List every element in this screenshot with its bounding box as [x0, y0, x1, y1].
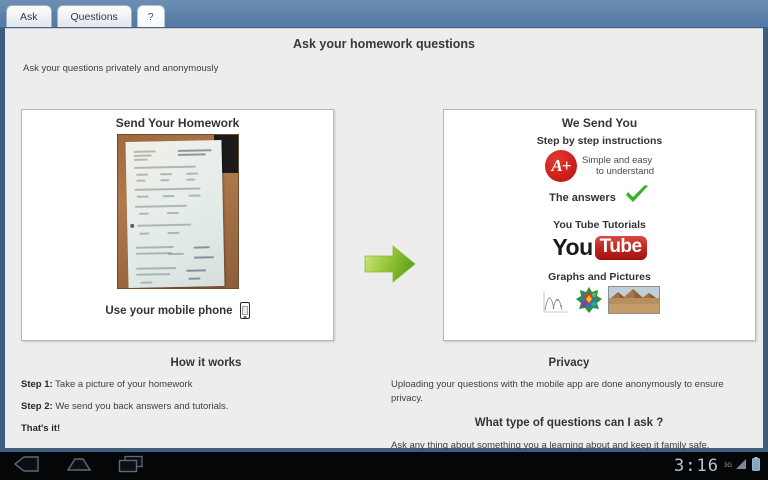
signal-network-label: 3G: [724, 463, 732, 469]
youtube-logo-you: You: [552, 234, 592, 261]
page-content: Ask your homework questions Ask your que…: [5, 28, 763, 448]
send-homework-title: Send Your Homework: [22, 116, 333, 130]
line-graph-icon: [540, 288, 570, 314]
page-subtitle: Ask your questions privately and anonymo…: [23, 63, 763, 74]
homework-photo-wrap: [22, 134, 333, 289]
android-navigation-bar: 3:16 3G: [0, 452, 768, 480]
a-plus-grade-icon: A+: [545, 150, 577, 182]
green-checkmark-icon: [624, 185, 650, 210]
status-area: 3:16 3G: [674, 456, 760, 476]
how-it-works-thats-it: That's it!: [21, 422, 391, 436]
question-type-title: What type of questions can I ask ?: [391, 417, 747, 429]
mobile-phone-icon: [240, 302, 250, 319]
signal-bars-icon: [735, 457, 747, 475]
youtube-logo-row: You Tube: [444, 234, 755, 261]
polyhedron-icon: [575, 286, 603, 314]
battery-icon: [752, 457, 760, 476]
how-it-works-section: How it works Step 1: Take a picture of y…: [21, 357, 391, 436]
browser-tab-strip: Ask Questions ?: [0, 0, 768, 28]
step-instructions-heading: Step by step instructions: [444, 135, 755, 147]
how-it-works-title: How it works: [21, 357, 391, 369]
tab-ask[interactable]: Ask: [6, 5, 52, 27]
pyramids-photo-icon: [608, 286, 660, 314]
privacy-text: Uploading your questions with the mobile…: [391, 378, 747, 406]
mobile-phone-label: Use your mobile phone: [105, 305, 232, 317]
tab-questions[interactable]: Questions: [57, 5, 132, 27]
step-2-label: Step 2:: [21, 401, 53, 412]
tab-ask-label: Ask: [20, 11, 38, 23]
youtube-logo-tube: Tube: [595, 236, 647, 260]
graphs-pictures-row: [444, 286, 755, 314]
nav-buttons: [14, 455, 144, 478]
a-plus-note: Simple and easy to understand: [582, 155, 654, 178]
youtube-heading: You Tube Tutorials: [444, 219, 755, 231]
recent-apps-icon[interactable]: [118, 455, 144, 478]
we-send-you-card: We Send You Step by step instructions A+…: [443, 109, 756, 341]
answers-label: The answers: [549, 192, 616, 204]
home-icon[interactable]: [66, 456, 92, 477]
we-send-you-title: We Send You: [444, 116, 755, 130]
step-2-text: We send you back answers and tutorials.: [53, 401, 229, 412]
how-it-works-step-2: Step 2: We send you back answers and tut…: [21, 400, 391, 414]
a-plus-note-line1: Simple and easy: [582, 155, 652, 166]
a-plus-row: A+ Simple and easy to understand: [444, 150, 755, 182]
back-icon[interactable]: [14, 456, 40, 477]
thats-it-label: That's it!: [21, 423, 60, 434]
step-1-text: Take a picture of your homework: [53, 379, 193, 390]
tab-help-label: ?: [148, 11, 154, 23]
privacy-title: Privacy: [391, 357, 747, 369]
mobile-phone-footer: Use your mobile phone: [22, 302, 333, 319]
graphs-pictures-heading: Graphs and Pictures: [444, 271, 755, 283]
page-frame: Ask your homework questions Ask your que…: [0, 28, 768, 452]
step-1-label: Step 1:: [21, 379, 53, 390]
tab-questions-label: Questions: [71, 11, 118, 23]
homework-worksheet-photo: [117, 134, 239, 289]
how-it-works-step-1: Step 1: Take a picture of your homework: [21, 378, 391, 392]
youtube-logo: You Tube: [552, 234, 646, 261]
send-homework-card: Send Your Homework: [21, 109, 334, 341]
a-plus-note-line2: to understand: [582, 166, 654, 178]
cards-container: Send Your Homework: [5, 81, 763, 319]
question-type-text: Ask any thing about something you a lear…: [391, 439, 747, 453]
device-screen: Ask Questions ? Ask your homework questi…: [0, 0, 768, 480]
tab-help[interactable]: ?: [137, 5, 165, 27]
right-arrow-icon: [363, 243, 417, 285]
privacy-section: Privacy Uploading your questions with th…: [391, 357, 747, 453]
worksheet-sheet: [125, 140, 224, 288]
page-title: Ask your homework questions: [5, 37, 763, 51]
clock-time: 3:16: [674, 456, 719, 476]
answers-row: The answers: [444, 185, 755, 210]
